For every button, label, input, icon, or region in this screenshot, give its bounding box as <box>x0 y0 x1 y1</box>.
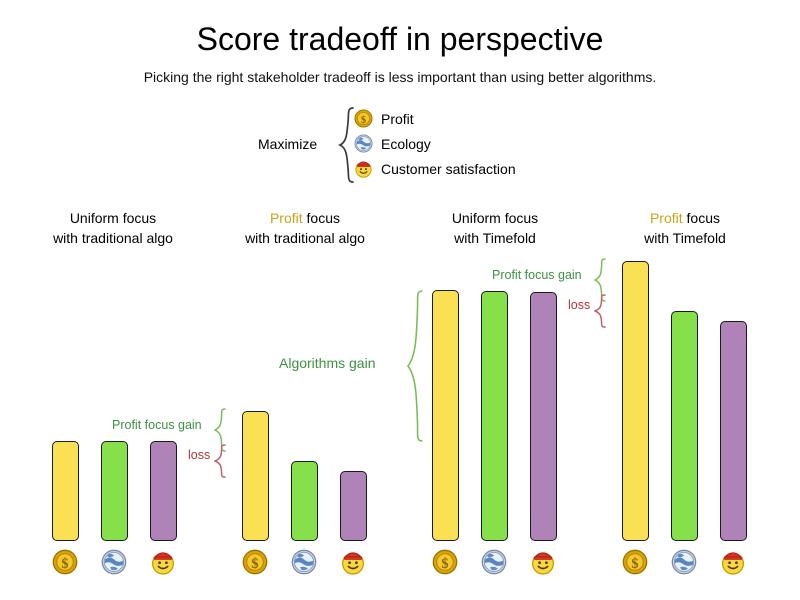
algorithms-gain-brace-icon <box>406 289 426 443</box>
bar-customer-group1 <box>150 441 177 541</box>
axis-icon-globe <box>671 549 697 575</box>
page-subtitle: Picking the right stakeholder tradeoff i… <box>0 68 800 86</box>
axis-icon-smiley-customer <box>150 549 176 575</box>
axis-icon-money-coin: $ <box>242 549 268 575</box>
bar-profit-group2 <box>242 411 269 541</box>
legend-item-customer: Customer satisfaction <box>354 156 516 181</box>
legend-item-label: Ecology <box>381 136 431 152</box>
axis-icon-smiley-customer <box>720 549 746 575</box>
legend-items: $ Profit Ecology <box>354 106 516 181</box>
axis-icon-globe <box>291 549 317 575</box>
smiley-customer-icon <box>354 159 373 178</box>
chart-canvas: Score tradeoff in perspective Picking th… <box>0 0 800 600</box>
legend-item-ecology: Ecology <box>354 131 516 156</box>
annotation-loss-right: loss <box>568 298 590 312</box>
group-heading-line2: with traditional algo <box>205 228 405 248</box>
globe-icon <box>354 134 373 153</box>
group-heading-3: Uniform focus with Timefold <box>395 208 595 248</box>
bar-ecology-group1 <box>101 441 128 541</box>
bar-customer-group4 <box>720 321 747 541</box>
group-heading-line2: with Timefold <box>395 228 595 248</box>
axis-icon-money-coin: $ <box>52 549 78 575</box>
svg-text:$: $ <box>251 556 258 572</box>
annotation-algorithms-gain: Algorithms gain <box>279 356 376 370</box>
axis-icon-smiley-customer <box>530 549 556 575</box>
axis-icon-globe <box>481 549 507 575</box>
bar-profit-group1 <box>52 441 79 541</box>
bar-ecology-group3 <box>481 291 508 541</box>
bar-ecology-group2 <box>291 461 318 541</box>
group-heading-accent: Profit <box>270 210 303 226</box>
svg-text:$: $ <box>631 556 638 572</box>
legend: Maximize $ Profit <box>258 106 558 184</box>
svg-text:$: $ <box>61 556 68 572</box>
annotation-profit-focus-gain-left: Profit focus gain <box>112 418 202 432</box>
annotation-loss-left: loss <box>188 448 210 462</box>
bar-profit-group3 <box>432 290 459 541</box>
group-heading-accent: Profit <box>650 210 683 226</box>
money-coin-icon: $ <box>354 109 373 128</box>
axis-icon-money-coin: $ <box>622 549 648 575</box>
svg-text:$: $ <box>361 115 366 126</box>
loss-brace-icon-left <box>214 444 228 478</box>
group-heading-2: Profit focus with traditional algo <box>205 208 405 248</box>
bar-ecology-group4 <box>671 311 698 541</box>
svg-text:$: $ <box>441 556 448 572</box>
loss-brace-icon-right <box>594 294 608 328</box>
group-heading-line1: focus <box>683 210 720 226</box>
group-heading-line1: Uniform focus <box>452 210 538 226</box>
axis-icon-smiley-customer <box>340 549 366 575</box>
group-heading-4: Profit focus with Timefold <box>585 208 785 248</box>
bar-customer-group2 <box>340 471 367 541</box>
axis-icon-money-coin: $ <box>432 549 458 575</box>
group-heading-line2: with Timefold <box>585 228 785 248</box>
group-heading-line2: with traditional algo <box>13 228 213 248</box>
group-heading-line1: Uniform focus <box>70 210 156 226</box>
page-title: Score tradeoff in perspective <box>0 20 800 58</box>
legend-item-profit: $ Profit <box>354 106 516 131</box>
annotation-profit-focus-gain-right: Profit focus gain <box>492 268 582 282</box>
axis-icon-globe <box>101 549 127 575</box>
legend-item-label: Profit <box>381 111 414 127</box>
group-heading-1: Uniform focus with traditional algo <box>13 208 213 248</box>
bar-profit-group4 <box>622 261 649 541</box>
bar-customer-group3 <box>530 292 557 541</box>
group-heading-line1: focus <box>303 210 340 226</box>
legend-item-label: Customer satisfaction <box>381 161 516 177</box>
legend-title: Maximize <box>258 136 317 152</box>
